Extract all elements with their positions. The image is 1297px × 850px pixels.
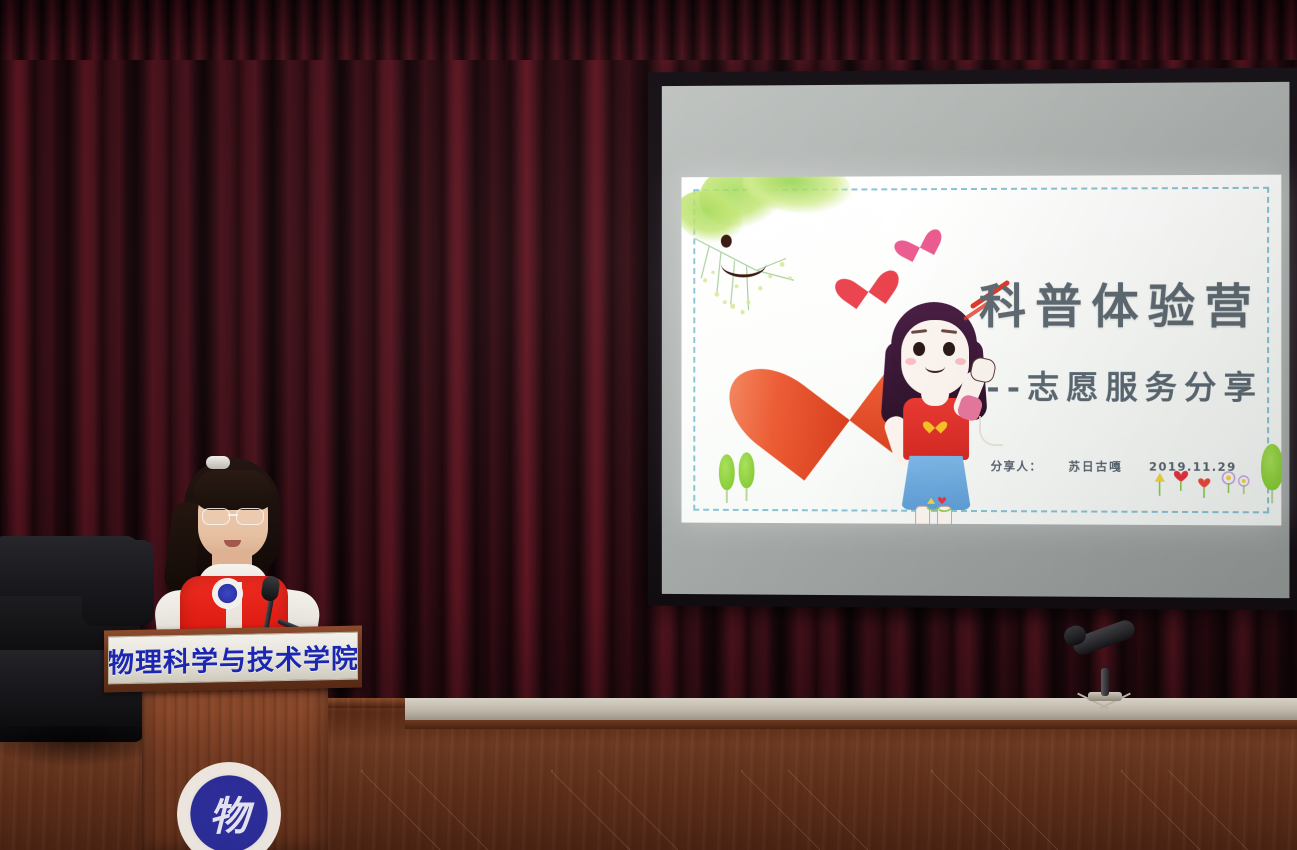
stage-table-edge	[405, 720, 1297, 729]
daisy-icon	[1220, 471, 1236, 499]
heart-eye	[721, 235, 732, 248]
girl-chest-heart-icon	[927, 416, 943, 431]
chair-second	[82, 540, 154, 626]
presentation-scene: 物理科学与技术学院 物	[0, 0, 1297, 850]
tree-icon	[1261, 444, 1281, 504]
floor-diamond	[551, 770, 681, 850]
floor-diamond	[1121, 770, 1251, 850]
projection-screen-surface: 科普体验营 --志愿服务分享 分享人： 苏日古嘎 2019.11.29	[662, 82, 1290, 598]
vest-badge	[212, 578, 243, 609]
heart-smile	[721, 250, 766, 277]
heart-flower-icon	[1172, 465, 1190, 497]
slide-title: 科普体验营	[979, 267, 1261, 337]
projection-screen-frame: 科普体验营 --志愿服务分享 分享人： 苏日古嘎 2019.11.29	[648, 68, 1297, 611]
flower-icon	[1154, 473, 1166, 503]
presenter-label: 分享人：	[991, 458, 1043, 474]
girl-blush	[955, 358, 966, 365]
girl-eye	[913, 342, 925, 356]
slide-subtitle: --志愿服务分享	[986, 362, 1263, 409]
podium-name-plate: 物理科学与技术学院	[108, 632, 358, 685]
small-flower-icon	[925, 492, 955, 518]
floor-diamond	[931, 770, 1061, 850]
hair-tie	[206, 456, 230, 469]
tulip-icon	[1196, 473, 1212, 503]
podium-sign-text: 物理科学与技术学院	[108, 636, 358, 680]
tree-icon	[719, 454, 735, 503]
girl-eye	[943, 342, 955, 356]
floor-diamond	[741, 770, 871, 850]
daisy-icon	[1237, 475, 1251, 501]
pink-heart-icon	[897, 220, 937, 258]
emblem-glyph: 物	[209, 784, 249, 842]
girl-blush	[905, 358, 916, 365]
girl-smile	[925, 360, 945, 373]
presentation-slide: 科普体验营 --志愿服务分享 分享人： 苏日古嘎 2019.11.29	[681, 175, 1281, 526]
table-mic-post	[1101, 668, 1109, 696]
presenter-name: 苏日古嘎	[1068, 458, 1122, 474]
tree-icon	[739, 452, 755, 501]
hair-bangs	[194, 470, 272, 510]
glasses-icon	[202, 508, 264, 523]
floor-diamond	[361, 770, 491, 850]
